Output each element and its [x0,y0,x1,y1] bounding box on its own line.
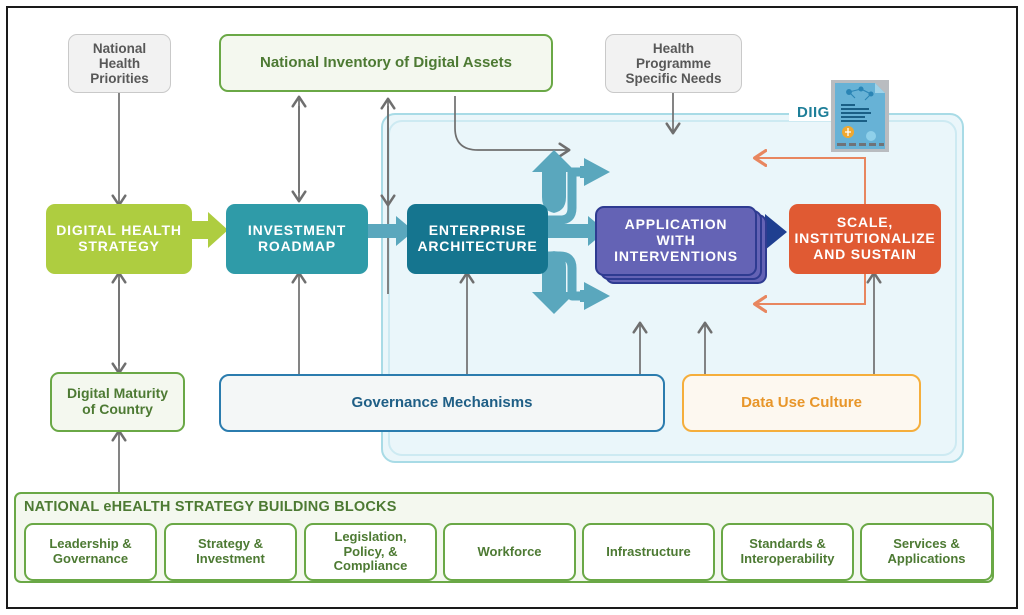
node-label: Health Programme Specific Needs [625,41,721,86]
building-block-3[interactable]: Workforce [443,523,576,581]
node-label: National Inventory of Digital Assets [260,55,512,72]
building-block-0[interactable]: Leadership & Governance [24,523,157,581]
building-block-1[interactable]: Strategy & Investment [164,523,297,581]
node-label: Governance Mechanisms [352,395,533,412]
node-label: DIGITAL HEALTH STRATEGY [56,223,182,254]
node-label: INVESTMENT ROADMAP [248,223,346,254]
building-block-label: Legislation, Policy, & Compliance [334,530,408,575]
diagram-canvas: DIIG [0,0,1024,615]
building-block-label: Standards & Interoperability [741,537,835,567]
building-block-label: Infrastructure [606,545,691,560]
node-label: National Health Priorities [90,41,149,86]
node-label: Data Use Culture [741,395,862,412]
node-digital-maturity-of-country[interactable]: Digital Maturity of Country [50,372,185,432]
building-block-6[interactable]: Services & Applications [860,523,993,581]
node-label: ENTERPRISE ARCHITECTURE [417,223,537,254]
document-icon [831,80,889,157]
building-block-2[interactable]: Legislation, Policy, & Compliance [304,523,437,581]
node-digital-health-strategy[interactable]: DIGITAL HEALTH STRATEGY [46,204,192,274]
node-investment-roadmap[interactable]: INVESTMENT ROADMAP [226,204,368,274]
building-block-5[interactable]: Standards & Interoperability [721,523,854,581]
node-label: SCALE, INSTITUTIONALIZE AND SUSTAIN [794,215,935,262]
node-label: APPLICATION WITH INTERVENTIONS [614,217,738,264]
building-block-label: Workforce [477,545,541,560]
building-block-label: Leadership & Governance [49,537,131,567]
building-block-label: Services & Applications [887,537,965,567]
node-governance-mechanisms[interactable]: Governance Mechanisms [219,374,665,432]
building-block-label: Strategy & Investment [196,537,265,567]
node-label: Digital Maturity of Country [67,386,168,417]
node-national-inventory-digital-assets[interactable]: National Inventory of Digital Assets [219,34,553,92]
node-scale-institutionalize-and-sustain[interactable]: SCALE, INSTITUTIONALIZE AND SUSTAIN [789,204,941,274]
building-blocks-title: NATIONAL eHEALTH STRATEGY BUILDING BLOCK… [24,499,397,515]
building-block-4[interactable]: Infrastructure [582,523,715,581]
node-health-programme-specific-needs[interactable]: Health Programme Specific Needs [605,34,742,93]
node-national-health-priorities[interactable]: National Health Priorities [68,34,171,93]
node-application-with-interventions[interactable]: APPLICATION WITH INTERVENTIONS [595,206,757,276]
node-data-use-culture[interactable]: Data Use Culture [682,374,921,432]
diagram-frame: DIIG [6,6,1018,609]
node-enterprise-architecture[interactable]: ENTERPRISE ARCHITECTURE [407,204,548,274]
